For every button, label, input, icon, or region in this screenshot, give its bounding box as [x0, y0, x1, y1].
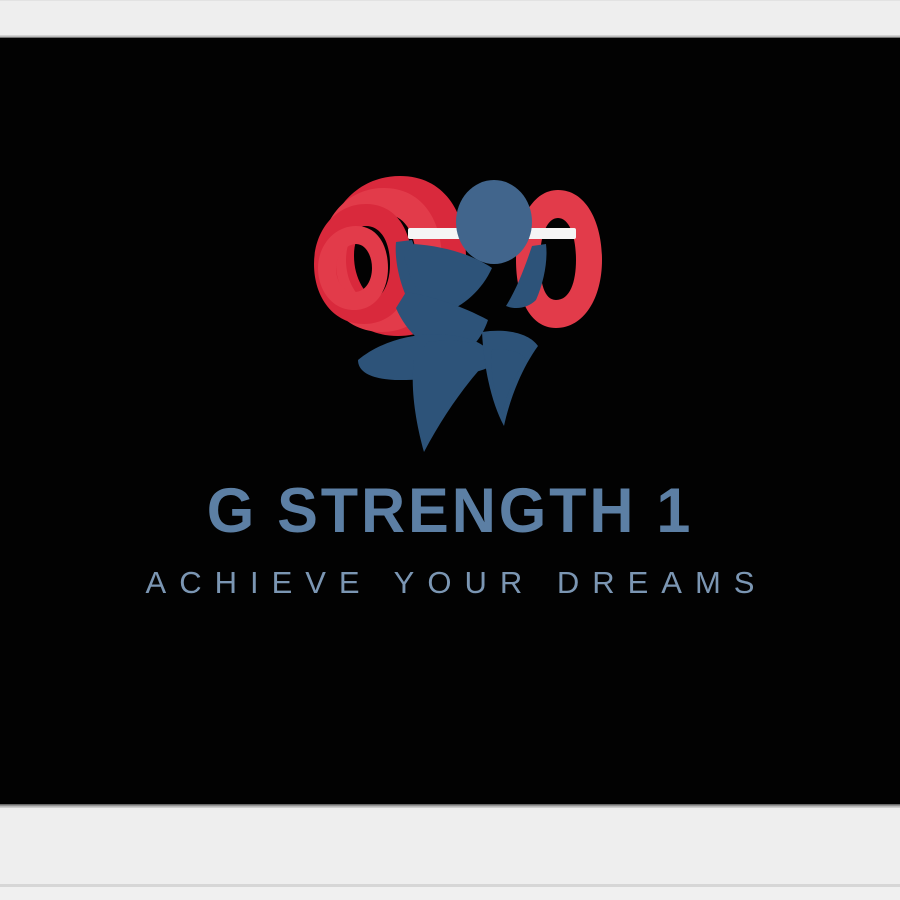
viewer-footer-strip: [0, 887, 900, 900]
viewer-bottom-panel: [0, 808, 900, 886]
viewer-top-strip: [0, 0, 900, 36]
weightlifter-barbell-icon: [296, 164, 616, 454]
brand-title: G STRENGTH 1: [14, 479, 887, 543]
brand-tagline: ACHIEVE YOUR DREAMS: [0, 566, 900, 600]
athlete-head: [456, 180, 532, 264]
logo-image-canvas[interactable]: G STRENGTH 1 ACHIEVE YOUR DREAMS: [0, 38, 900, 806]
image-viewer-page: G STRENGTH 1 ACHIEVE YOUR DREAMS: [0, 0, 900, 900]
